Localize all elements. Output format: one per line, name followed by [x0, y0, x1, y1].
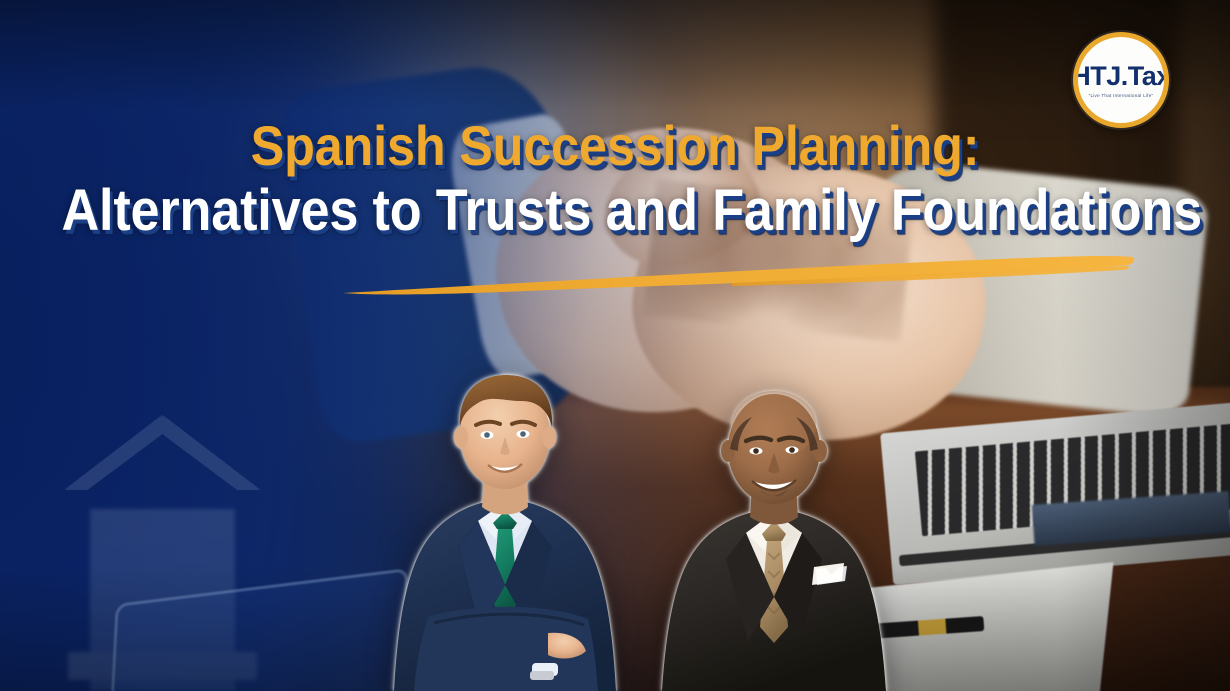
- left-wristwatch: [530, 671, 554, 680]
- logo-tagline: "Live That International Life": [1089, 93, 1154, 98]
- speaker-right: [648, 391, 900, 691]
- headline-line-2: Alternatives to Trusts and Family Founda…: [62, 182, 1169, 240]
- htj-tax-logo[interactable]: HTJ.Tax "Live That International Life": [1073, 32, 1169, 128]
- headline-line-1: Spanish Succession Planning:: [62, 118, 1169, 174]
- left-ear-right: [542, 426, 556, 448]
- title-card: HTJ.Tax "Live That International Life" S…: [0, 0, 1230, 691]
- left-ear-left: [454, 426, 468, 448]
- speaker-left: [372, 371, 638, 691]
- logo-wordmark: HTJ.Tax: [1073, 63, 1169, 90]
- headline-block: Spanish Succession Planning: Alternative…: [0, 118, 1230, 240]
